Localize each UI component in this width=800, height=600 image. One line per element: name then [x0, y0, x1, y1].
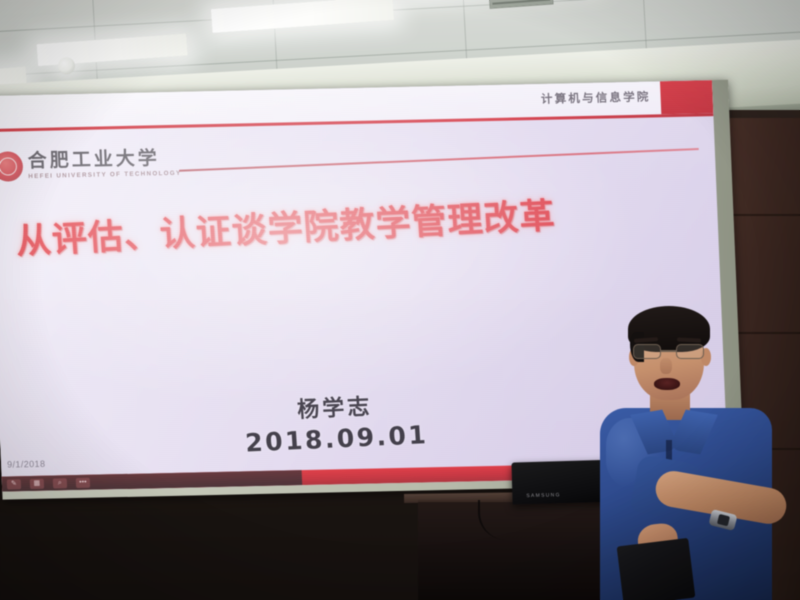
lecture-hall-photo: 计算机与信息学院 合肥工业大学 HEFEI UNIVERSITY OF TECH…: [0, 0, 800, 600]
powerpoint-presenter-toolbar[interactable]: ✎ ▦ ⌕ •••: [2, 470, 303, 492]
mouth: [654, 378, 680, 390]
lens-left: [633, 344, 661, 359]
slide-navigator-icon[interactable]: ▦: [30, 478, 44, 488]
department-label: 计算机与信息学院: [541, 89, 651, 107]
ceiling-downlight: [57, 57, 75, 75]
slide-title: 从评估、认证谈学院教学管理改革: [14, 180, 706, 264]
university-seal-icon: [0, 151, 24, 182]
header-red-accent-block: [660, 80, 713, 114]
glasses-bridge: [661, 350, 677, 352]
more-options-icon[interactable]: •••: [76, 477, 90, 487]
held-object: [617, 538, 696, 600]
university-name-cn: 合肥工业大学: [27, 149, 181, 171]
laptop-brand-label: SAMSUNG: [526, 492, 561, 499]
lens-right: [676, 344, 704, 359]
logo-divider-rule: [179, 148, 699, 172]
slide-date-stamp: 9/1/2018: [7, 459, 46, 470]
ceiling-panel-light: [211, 0, 394, 33]
presenter-person: [598, 300, 798, 600]
nose: [660, 358, 672, 374]
university-name-en: HEFEI UNIVERSITY OF TECHNOLOGY: [28, 171, 181, 181]
university-logo: 合肥工业大学 HEFEI UNIVERSITY OF TECHNOLOGY: [0, 148, 182, 182]
zoom-icon[interactable]: ⌕: [53, 478, 67, 488]
air-vent-icon: [487, 0, 553, 9]
presenter-block: 杨学志 2018.09.01: [234, 386, 438, 458]
pen-icon[interactable]: ✎: [7, 479, 21, 489]
